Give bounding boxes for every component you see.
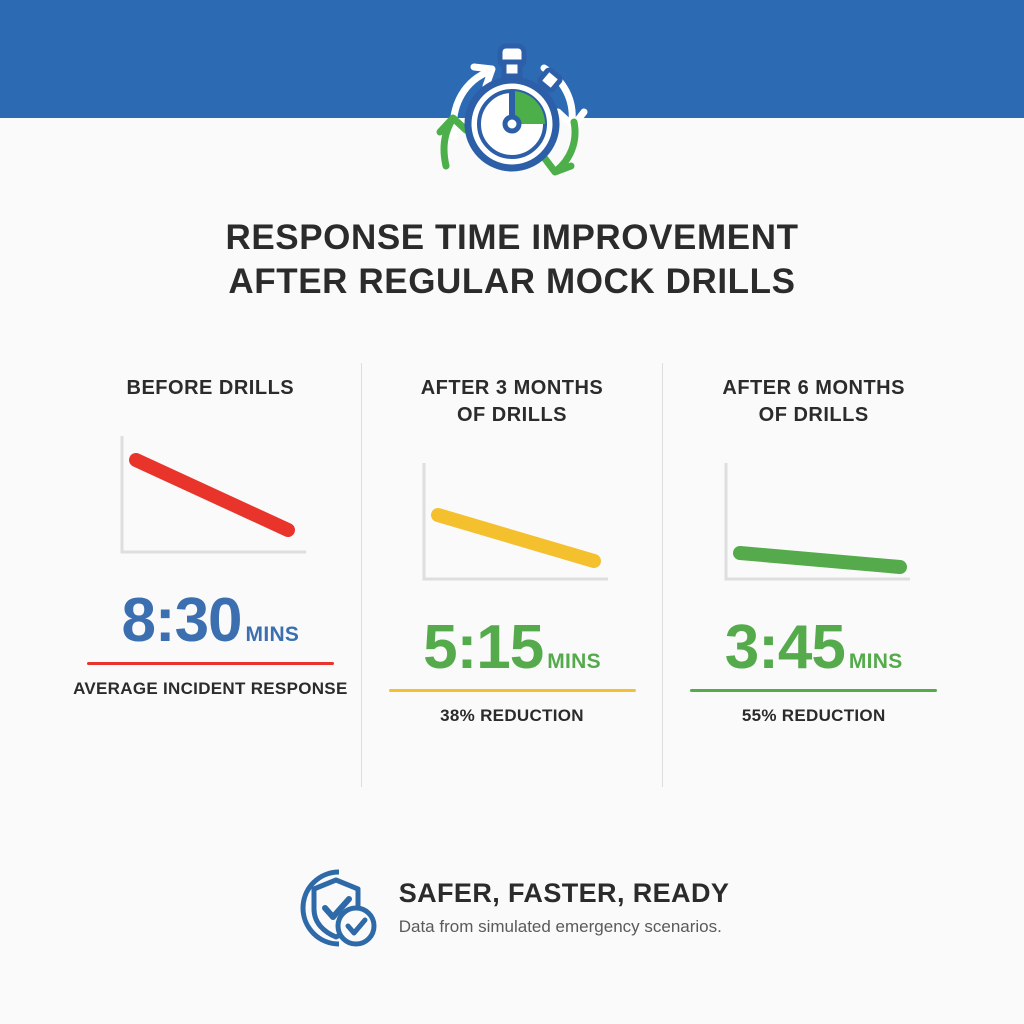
stat-value-before-drills: 8:30 MINS [121, 590, 299, 652]
title-line-2: AFTER REGULAR MOCK DRILLS [0, 260, 1024, 304]
column-heading: AFTER 3 MONTHS OF DRILLS [421, 375, 604, 429]
footer-subtitle: Data from simulated emergency scenarios. [399, 916, 730, 938]
stat-underline [87, 662, 334, 665]
stat-unit: MINS [547, 650, 601, 674]
infographic-canvas: RESPONSE TIME IMPROVEMENT AFTER REGULAR … [0, 0, 1024, 1024]
sparkline-before-drills [110, 430, 310, 560]
stat-caption: 55% REDUCTION [742, 706, 886, 726]
sparkline-after-3-months [412, 457, 612, 587]
stat-underline [389, 689, 636, 692]
stat-column-after-3-months: AFTER 3 MONTHS OF DRILLS 5:15 MINS 38% R… [362, 363, 663, 787]
title-line-1: RESPONSE TIME IMPROVEMENT [0, 216, 1024, 260]
shield-check-icon [295, 866, 377, 948]
page-title: RESPONSE TIME IMPROVEMENT AFTER REGULAR … [0, 216, 1024, 304]
footer-text: SAFER, FASTER, READY Data from simulated… [399, 876, 730, 938]
stat-caption: 38% REDUCTION [440, 706, 584, 726]
stat-unit: MINS [849, 650, 903, 674]
stat-number: 8:30 [121, 590, 241, 652]
stat-caption: AVERAGE INCIDENT RESPONSE [73, 679, 348, 699]
footer-title: SAFER, FASTER, READY [399, 876, 730, 910]
stopwatch-with-rotation-arrows-icon [432, 38, 592, 183]
stat-column-before-drills: BEFORE DRILLS 8:30 MINS AVERAGE INCIDENT… [60, 363, 361, 787]
stat-value-after-3-months: 5:15 MINS [423, 617, 601, 679]
stat-number: 3:45 [725, 617, 845, 679]
column-heading: AFTER 6 MONTHS OF DRILLS [722, 375, 905, 429]
stats-columns: BEFORE DRILLS 8:30 MINS AVERAGE INCIDENT… [60, 363, 964, 787]
stat-underline [690, 689, 937, 692]
stat-number: 5:15 [423, 617, 543, 679]
column-heading: BEFORE DRILLS [127, 375, 295, 402]
footer: SAFER, FASTER, READY Data from simulated… [0, 866, 1024, 948]
sparkline-after-6-months [714, 457, 914, 587]
stat-value-after-6-months: 3:45 MINS [725, 617, 903, 679]
stat-unit: MINS [246, 623, 300, 647]
stat-column-after-6-months: AFTER 6 MONTHS OF DRILLS 3:45 MINS 55% R… [663, 363, 964, 787]
